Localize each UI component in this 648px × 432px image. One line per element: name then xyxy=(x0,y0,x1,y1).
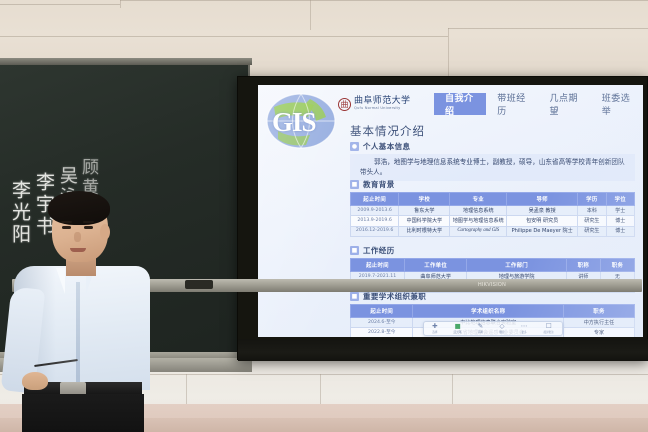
acad-col-organization: 学术组织名称 xyxy=(413,305,564,318)
cell-period: 2024.6-至今 xyxy=(351,318,413,328)
university-name-cn: 曲阜师范大学 xyxy=(354,97,410,106)
award-icon: ■ xyxy=(350,292,359,301)
more-icon[interactable]: ⋯ 更多 xyxy=(521,323,528,335)
book-icon: ■ xyxy=(350,180,359,189)
briefcase-icon: ■ xyxy=(350,246,359,255)
cell-role: 专家 xyxy=(563,328,634,337)
display-bezel xyxy=(238,339,648,361)
cell-level: 研究生 xyxy=(578,216,606,226)
table-row: 2013.9-2019.6 中国科学院大学 地图学与地理信息系统 包安明 研究员… xyxy=(351,216,635,226)
edu-col-degree: 学位 xyxy=(606,193,634,206)
cell-role: 中方执行主任 xyxy=(563,318,634,328)
presenter-trousers xyxy=(22,394,144,432)
university-name-en: Qufu Normal University xyxy=(354,107,410,111)
cell-degree: 学士 xyxy=(606,206,634,216)
edu-col-degree-level: 学历 xyxy=(578,193,606,206)
cell-school: 鲁东大学 xyxy=(399,206,450,216)
display-ir-sensor xyxy=(185,280,213,289)
acad-col-role: 职务 xyxy=(563,305,634,318)
cell-degree: 博士 xyxy=(606,216,634,226)
cell-major: 地图学与地理信息系统 xyxy=(450,216,507,226)
block-label-education: 教育背景 xyxy=(363,179,395,190)
edu-col-major: 专业 xyxy=(450,193,507,206)
slide-header: 曲 曲阜师范大学 Qufu Normal University 自我介绍 带班经… xyxy=(334,91,643,117)
slide-tabs[interactable]: 自我介绍 带班经历 几点期望 班委选举 xyxy=(434,93,643,115)
cell-degree: 博士 xyxy=(606,226,634,236)
block-label-work: 工作经历 xyxy=(363,245,395,256)
person-icon: ● xyxy=(350,142,359,151)
presenter-eye-right xyxy=(84,226,93,229)
table-header-row: 起止时间 学术组织名称 职务 xyxy=(351,305,635,318)
cell-period: 2009.9-2013.6 xyxy=(351,206,399,216)
cell-period: 2013.9-2019.6 xyxy=(351,216,399,226)
pen-icon[interactable]: ✎ 画笔 xyxy=(478,323,483,335)
presenter xyxy=(0,196,150,432)
work-col-employer: 工作单位 xyxy=(404,259,466,272)
screenshot-icon[interactable]: ☐ 截屏批注 xyxy=(543,323,553,335)
tab-self-introduction[interactable]: 自我介绍 xyxy=(434,93,486,115)
cell-period: 2022.8-至今 xyxy=(351,328,413,337)
presenter-hand xyxy=(22,372,48,390)
block-education: ■ 教育背景 起止时间 学校 专业 导师 学历 学位 20 xyxy=(350,179,635,237)
slide-section-title: 基本情况介绍 xyxy=(350,123,425,139)
tab-committee-election[interactable]: 班委选举 xyxy=(591,93,643,115)
cell-period: 2016.12-2019.6 xyxy=(351,226,399,236)
cell-level: 研究生 xyxy=(578,226,606,236)
university-logo: 曲 曲阜师范大学 Qufu Normal University xyxy=(334,97,430,111)
annotation-toolbar[interactable]: ✚ 选择 ■ 荧光笔 ✎ 画笔 ◇ 橡皮 xyxy=(423,321,563,336)
cell-level: 本科 xyxy=(578,206,606,216)
cell-advisor: 包安明 研究员 xyxy=(507,216,578,226)
work-col-period: 起止时间 xyxy=(351,259,405,272)
table-row: 2016.12-2019.6 比利时根特大学 Cartography and G… xyxy=(351,226,635,236)
shirt-collar-left xyxy=(56,268,65,294)
presenter-ear xyxy=(100,224,110,240)
table-header-row: 起止时间 学校 专业 导师 学历 学位 xyxy=(351,193,635,206)
personal-bio-text: 郭浩，地图学与地理信息系统专业博士，副教授，硕导，山东省高等学校青年创新团队带头… xyxy=(350,154,635,181)
cell-major: 地理信息系统 xyxy=(450,206,507,216)
cell-major: Cartography and GIS xyxy=(450,226,507,236)
presenter-brow-right xyxy=(83,221,94,223)
edu-col-period: 起止时间 xyxy=(351,193,399,206)
display-screen[interactable]: GIS 曲 曲阜师范大学 Qufu Normal University 自我介绍… xyxy=(258,85,643,337)
presenter-mouth xyxy=(70,248,86,252)
block-personal-info: ● 个人基本信息 郭浩，地图学与地理信息系统专业博士，副教授，硕导，山东省高等学… xyxy=(350,141,635,181)
eraser-icon[interactable]: ◇ 橡皮 xyxy=(499,323,504,335)
table-header-row: 起止时间 工作单位 工作部门 职称 职务 xyxy=(351,259,635,272)
education-table: 起止时间 学校 专业 导师 学历 学位 2009.9-2013.6 鲁东大学 地… xyxy=(350,192,635,237)
shirt-placket xyxy=(76,282,80,390)
highlighter-icon[interactable]: ■ 荧光笔 xyxy=(454,323,462,335)
classroom-scene: 李光阳 李宇书 吴泳霖 顾黄李 xyxy=(0,0,648,432)
presenter-hair xyxy=(48,191,110,225)
interactive-display[interactable]: GIS 曲 曲阜师范大学 Qufu Normal University 自我介绍… xyxy=(237,76,648,360)
gis-logo-text: GIS xyxy=(272,107,316,138)
cursor-icon[interactable]: ✚ 选择 xyxy=(432,323,437,335)
presenter-eye-left xyxy=(62,226,71,229)
display-brand-label: HIKVISION xyxy=(478,282,506,288)
tab-class-experience[interactable]: 带班经历 xyxy=(486,93,538,115)
edu-col-advisor: 导师 xyxy=(507,193,578,206)
university-seal-icon: 曲 xyxy=(338,98,351,111)
tab-expectations[interactable]: 几点期望 xyxy=(539,93,591,115)
work-col-role: 职务 xyxy=(600,259,634,272)
cell-school: 中国科学院大学 xyxy=(399,216,450,226)
cell-school: 比利时根特大学 xyxy=(399,226,450,236)
gis-globe-icon: GIS xyxy=(264,91,338,151)
block-label-academic: 重要学术组织兼职 xyxy=(363,291,426,302)
acad-col-period: 起止时间 xyxy=(351,305,413,318)
presenter-brow-left xyxy=(61,221,72,223)
work-col-department: 工作部门 xyxy=(467,259,566,272)
edu-col-school: 学校 xyxy=(399,193,450,206)
presentation-slide: GIS 曲 曲阜师范大学 Qufu Normal University 自我介绍… xyxy=(258,85,643,337)
block-label-personal: 个人基本信息 xyxy=(363,141,410,152)
presenter-nose xyxy=(74,232,81,242)
cell-advisor: 吴孟泉 教授 xyxy=(507,206,578,216)
work-col-title: 职称 xyxy=(566,259,600,272)
table-row: 2009.9-2013.6 鲁东大学 地理信息系统 吴孟泉 教授 本科 学士 xyxy=(351,206,635,216)
blackboard-frame-top xyxy=(0,58,252,65)
cell-advisor: Philippe De Maeyer 院士 xyxy=(507,226,578,236)
